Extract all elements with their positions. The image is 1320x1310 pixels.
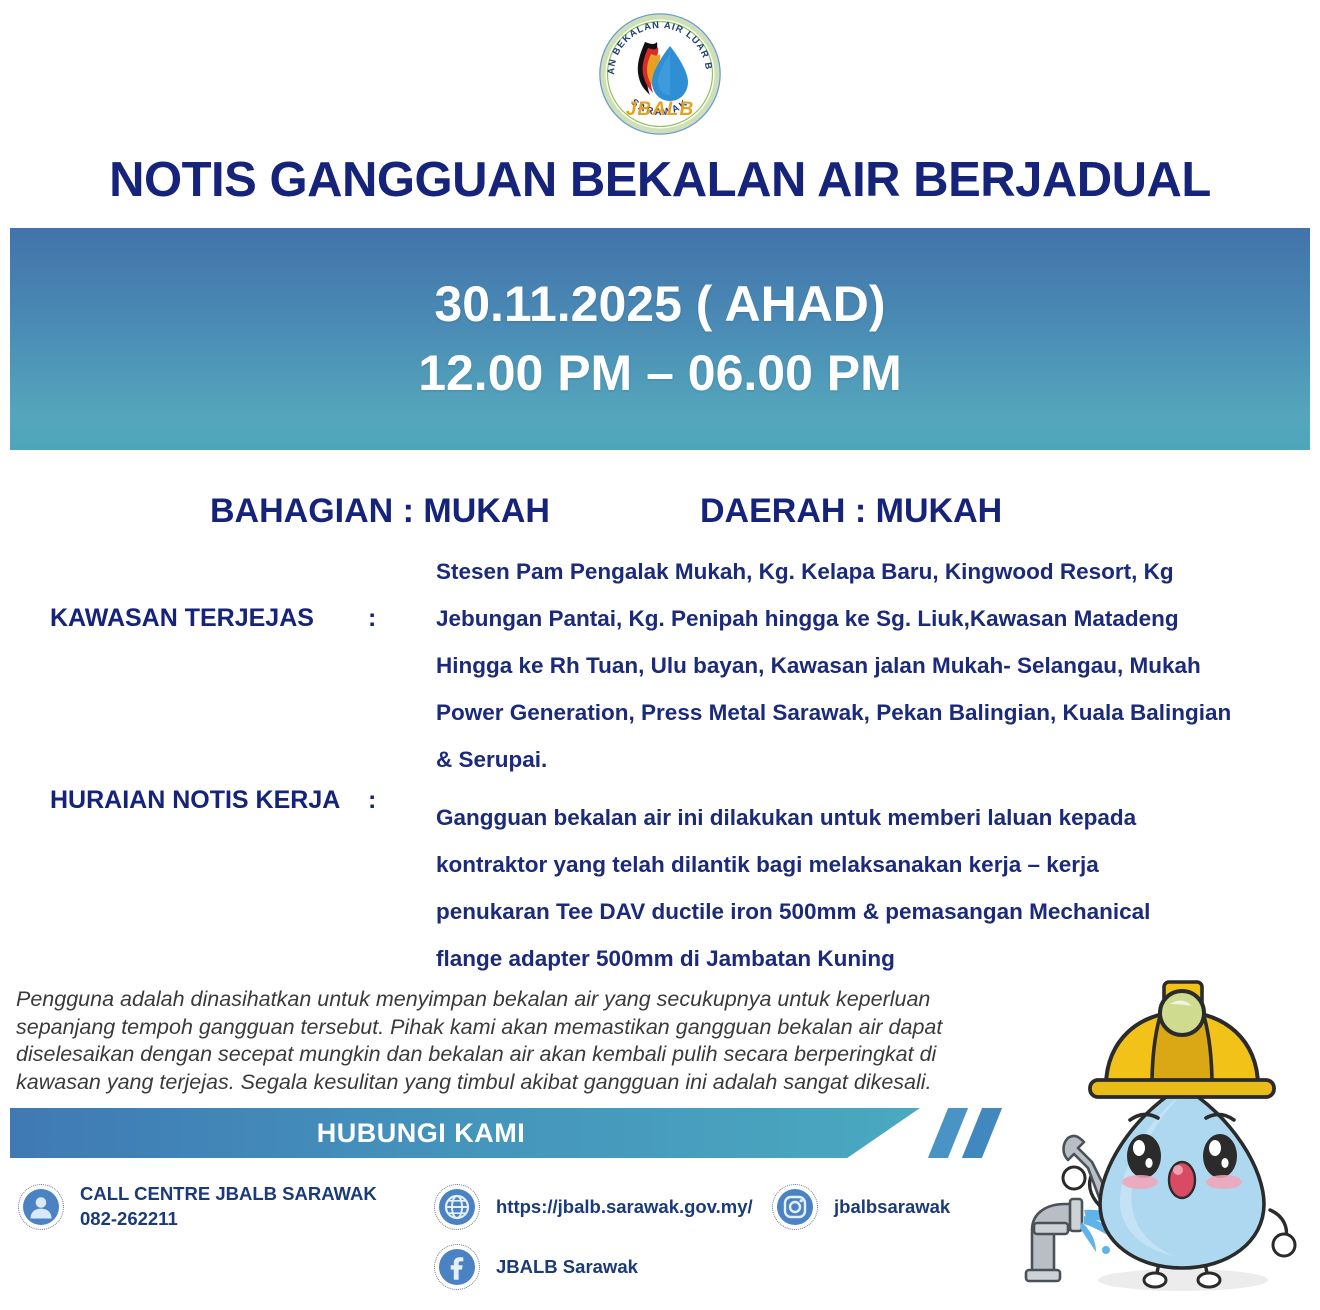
- daerah-label: DAERAH : MUKAH: [700, 492, 1002, 531]
- logo-container: JABATAN BEKALAN AIR LUAR BANDAR SARAWAK …: [0, 12, 1320, 136]
- decorative-slash-icon: [962, 1108, 1002, 1158]
- work-description-colon: :: [368, 786, 376, 815]
- facebook-page-name: JBALB Sarawak: [496, 1255, 638, 1279]
- affected-areas-line: & Serupai.: [436, 736, 1236, 783]
- affected-areas-label: KAWASAN TERJEJAS: [50, 604, 314, 633]
- affected-areas-line: Jebungan Pantai, Kg. Penipah hingga ke S…: [436, 595, 1236, 642]
- jbalb-sarawak-logo: JABATAN BEKALAN AIR LUAR BANDAR SARAWAK …: [598, 12, 722, 136]
- call-centre-name: CALL CENTRE JBALB SARAWAK: [80, 1183, 377, 1204]
- water-droplet-worker-mascot: [1008, 968, 1320, 1305]
- affected-areas-line: Power Generation, Press Metal Sarawak, P…: [436, 689, 1236, 736]
- contact-banner-label: HUBUNGI KAMI: [317, 1118, 526, 1149]
- contact-instagram[interactable]: jbalbsarawak: [772, 1184, 950, 1230]
- affected-areas-text: Stesen Pam Pengalak Mukah, Kg. Kelapa Ba…: [436, 548, 1236, 783]
- work-description-line: kontraktor yang telah dilantik bagi mela…: [436, 841, 1236, 888]
- work-description-line: penukaran Tee DAV ductile iron 500mm & p…: [436, 888, 1236, 935]
- decorative-slash-icon: [928, 1108, 968, 1158]
- affected-areas-line: Hingga ke Rh Tuan, Ulu bayan, Kawasan ja…: [436, 642, 1236, 689]
- schedule-time: 12.00 PM – 06.00 PM: [418, 339, 902, 408]
- instagram-handle: jbalbsarawak: [834, 1195, 950, 1219]
- affected-areas-colon: :: [368, 604, 376, 633]
- work-description-label: HURAIAN NOTIS KERJA: [50, 786, 340, 815]
- work-description-text: Gangguan bekalan air ini dilakukan untuk…: [436, 794, 1236, 982]
- globe-icon: [434, 1184, 480, 1230]
- svg-text:JBALB: JBALB: [626, 99, 694, 120]
- contact-facebook[interactable]: JBALB Sarawak: [434, 1244, 638, 1290]
- page-title: NOTIS GANGGUAN BEKALAN AIR BERJADUAL: [0, 152, 1320, 208]
- website-url: https://jbalb.sarawak.gov.my/: [496, 1195, 753, 1219]
- contact-banner-container: HUBUNGI KAMI: [10, 1108, 1010, 1158]
- bahagian-label: BAHAGIAN : MUKAH: [210, 492, 550, 531]
- person-icon: [18, 1184, 64, 1230]
- work-description-line: Gangguan bekalan air ini dilakukan untuk…: [436, 794, 1236, 841]
- location-row: BAHAGIAN : MUKAH DAERAH : MUKAH: [0, 492, 1320, 538]
- contact-call-centre[interactable]: CALL CENTRE JBALB SARAWAK 082-262211: [18, 1182, 377, 1232]
- schedule-date: 30.11.2025 ( AHAD): [434, 270, 885, 339]
- leaking-pipe: [1026, 1199, 1082, 1281]
- advisory-text: Pengguna adalah dinasihatkan untuk menyi…: [16, 986, 944, 1096]
- facebook-icon: [434, 1244, 480, 1290]
- contact-banner: HUBUNGI KAMI: [10, 1108, 920, 1158]
- contact-website[interactable]: https://jbalb.sarawak.gov.my/: [434, 1184, 753, 1230]
- call-centre-phone: 082-262211: [80, 1207, 377, 1232]
- affected-areas-line: Stesen Pam Pengalak Mukah, Kg. Kelapa Ba…: [436, 548, 1236, 595]
- notice-page: JABATAN BEKALAN AIR LUAR BANDAR SARAWAK …: [0, 0, 1320, 1305]
- schedule-banner: 30.11.2025 ( AHAD) 12.00 PM – 06.00 PM: [10, 228, 1310, 450]
- contact-call-centre-text: CALL CENTRE JBALB SARAWAK 082-262211: [80, 1182, 377, 1232]
- instagram-icon: [772, 1184, 818, 1230]
